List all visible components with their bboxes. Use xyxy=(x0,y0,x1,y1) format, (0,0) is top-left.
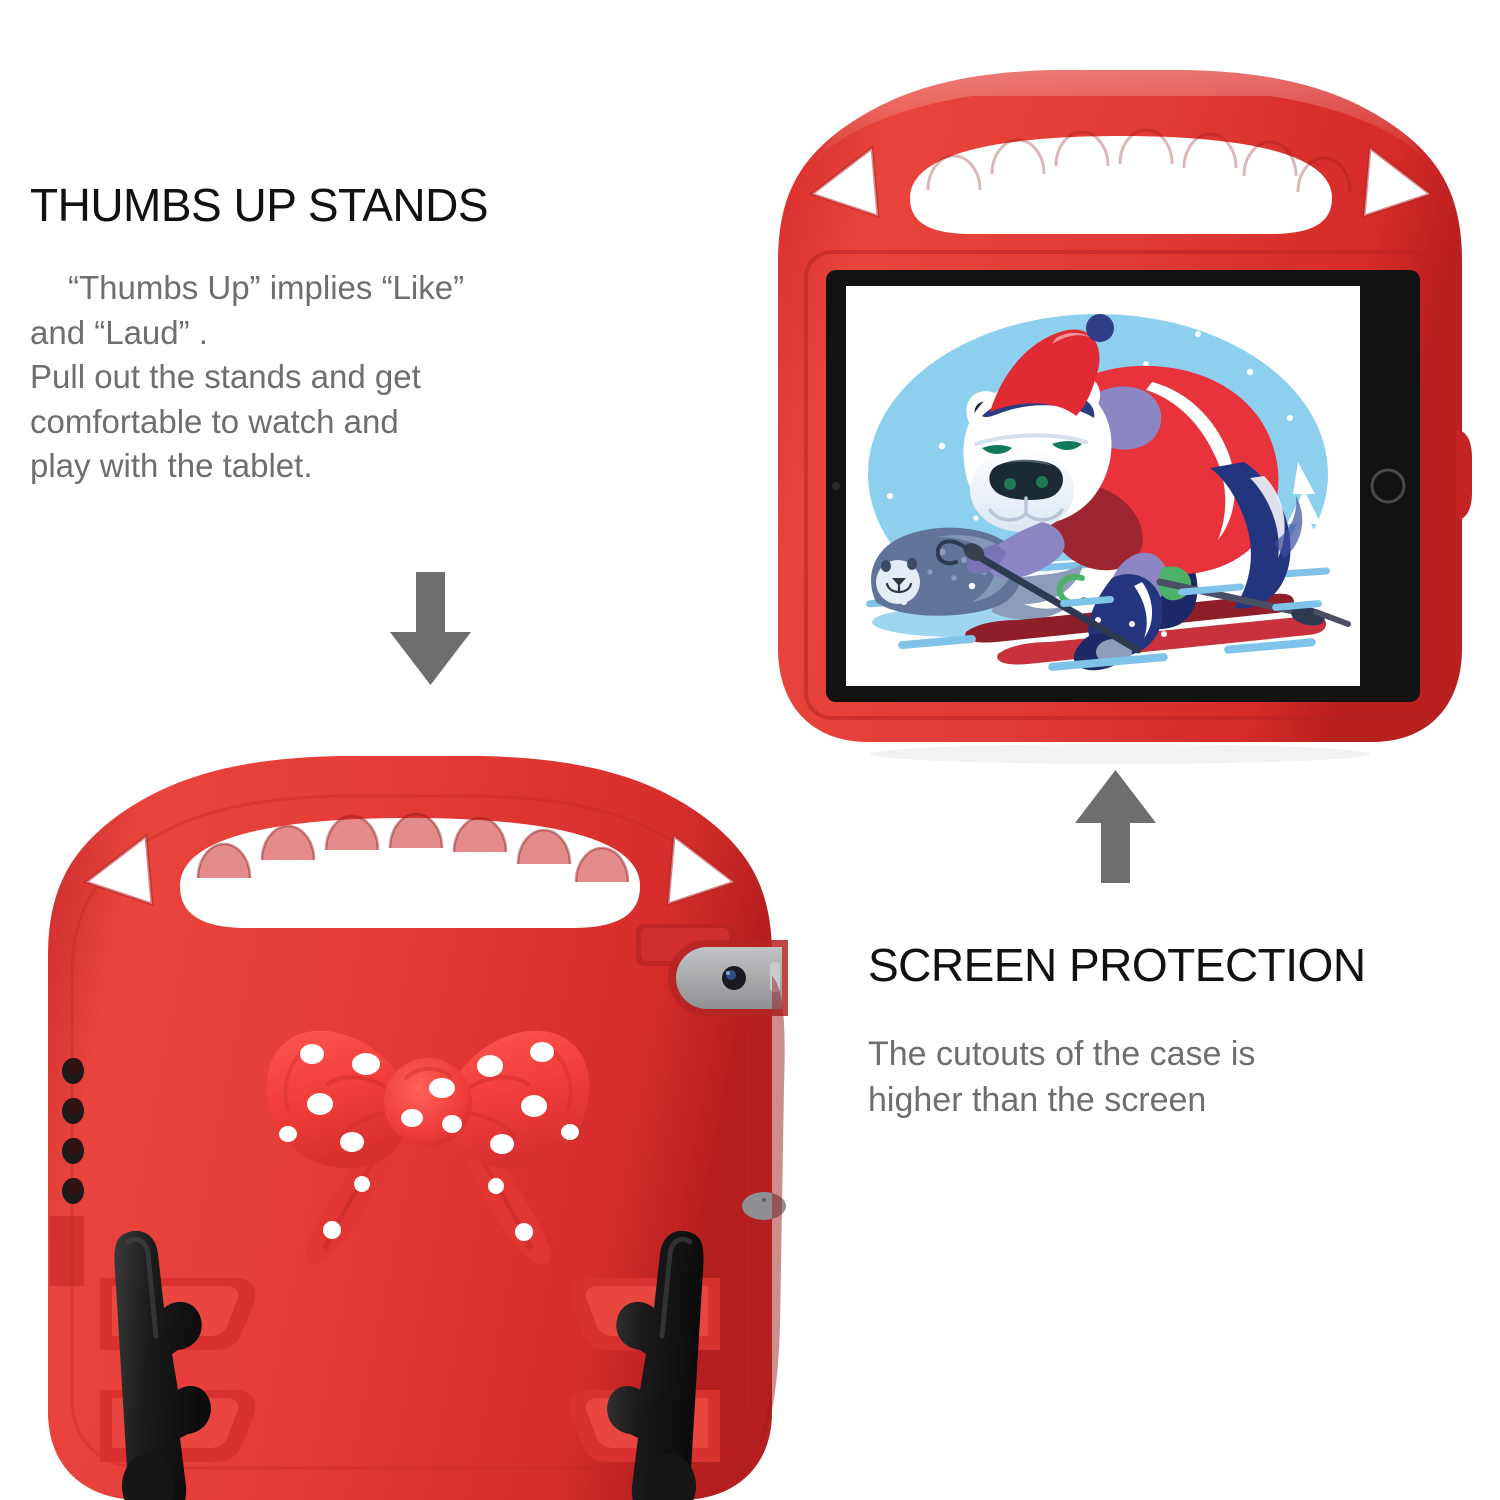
arrow-down-icon xyxy=(383,572,478,687)
feature-title-thumbs-up-stands: THUMBS UP STANDS xyxy=(30,178,730,232)
feature-screen-protection: SCREEN PROTECTION The cutouts of the cas… xyxy=(868,938,1480,1124)
body-line: The cutouts of the case is xyxy=(868,1032,1468,1078)
tablet-case-back-view xyxy=(28,726,828,1500)
body-line: comfortable to watch and xyxy=(30,400,720,445)
feature-thumbs-up-stands: THUMBS UP STANDS “Thumbs Up” implies “Li… xyxy=(30,178,730,489)
body-line: “Thumbs Up” implies “Like” xyxy=(30,266,720,311)
camera-cutout xyxy=(668,940,788,1016)
screen-illustration-skiing-polar-bear xyxy=(846,286,1360,686)
case-shadow xyxy=(870,744,1370,764)
left-side-notch xyxy=(50,1216,84,1286)
body-line: higher than the screen xyxy=(868,1078,1468,1124)
case-side-bump xyxy=(1456,430,1472,520)
feature-body-screen-protection: The cutouts of the case is higher than t… xyxy=(868,1032,1468,1124)
product-feature-page: THUMBS UP STANDS “Thumbs Up” implies “Li… xyxy=(0,0,1500,1500)
feature-body-thumbs-up-stands: “Thumbs Up” implies “Like” and “Laud” . … xyxy=(30,266,720,489)
feature-title-screen-protection: SCREEN PROTECTION xyxy=(868,938,1480,992)
body-line: play with the tablet. xyxy=(30,444,720,489)
body-line: Pull out the stands and get xyxy=(30,355,720,400)
bow-center-knot xyxy=(384,1058,472,1146)
tablet-case-front-view xyxy=(750,48,1492,788)
body-line: and “Laud” . xyxy=(30,311,720,356)
front-camera-icon xyxy=(832,482,840,490)
tablet-screen[interactable] xyxy=(846,286,1360,686)
